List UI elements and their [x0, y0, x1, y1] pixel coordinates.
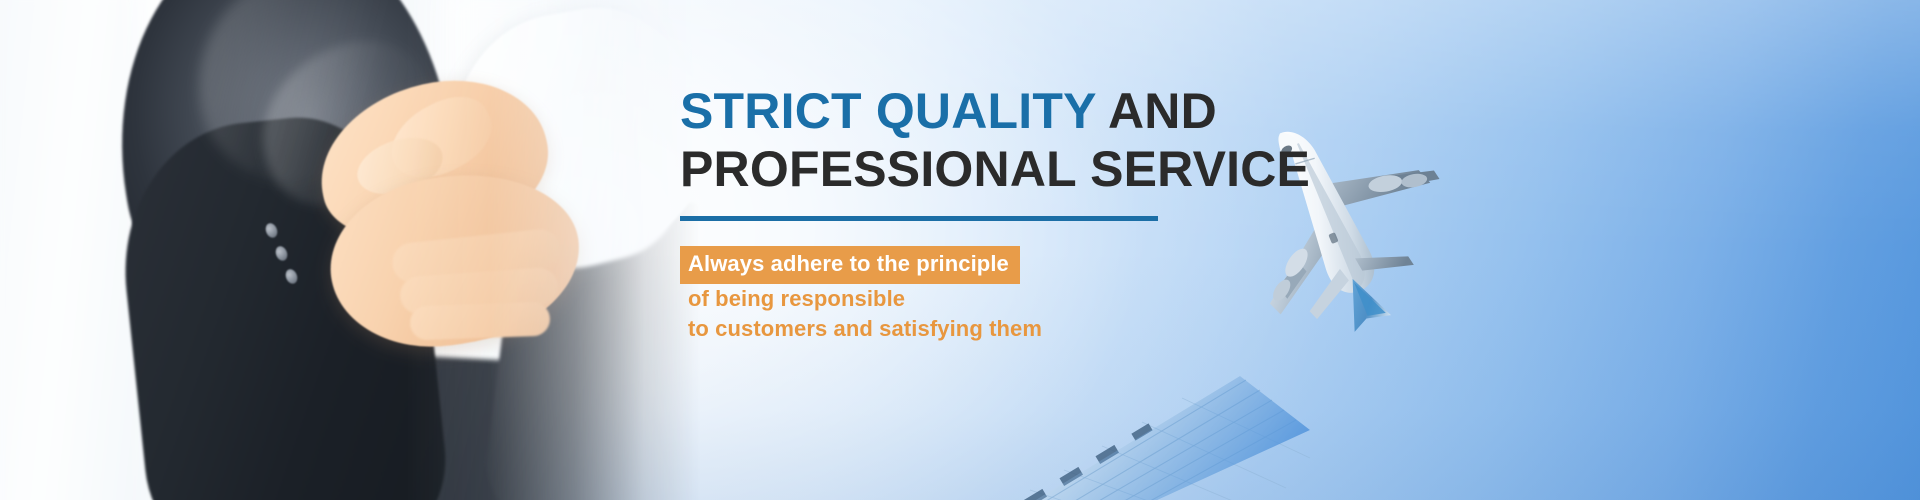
- tagline-line-3: to customers and satisfying them: [680, 314, 1300, 344]
- divider-rule: [680, 216, 1158, 221]
- banner-content: STRICT QUALITY AND PROFESSIONAL SERVICE …: [680, 82, 1300, 344]
- hero-banner: STRICT QUALITY AND PROFESSIONAL SERVICE …: [0, 0, 1920, 500]
- hand-finger-3: [409, 302, 550, 341]
- headline-line-1: STRICT QUALITY AND: [680, 82, 1300, 140]
- headline-highlight: STRICT QUALITY: [680, 83, 1096, 139]
- tagline-highlight: Always adhere to the principle: [680, 246, 1020, 284]
- headline-rest: AND: [1096, 83, 1217, 139]
- skyscraper-facade: [1010, 376, 1310, 500]
- headline-line-2-text: PROFESSIONAL SERVICE: [680, 141, 1310, 197]
- tagline-line-1: Always adhere to the principle: [680, 246, 1300, 284]
- handshake-photo: [0, 0, 700, 500]
- headline-line-2: PROFESSIONAL SERVICE: [680, 140, 1300, 198]
- tagline-line-2: of being responsible: [680, 284, 1300, 314]
- tagline-block: Always adhere to the principle of being …: [680, 246, 1300, 344]
